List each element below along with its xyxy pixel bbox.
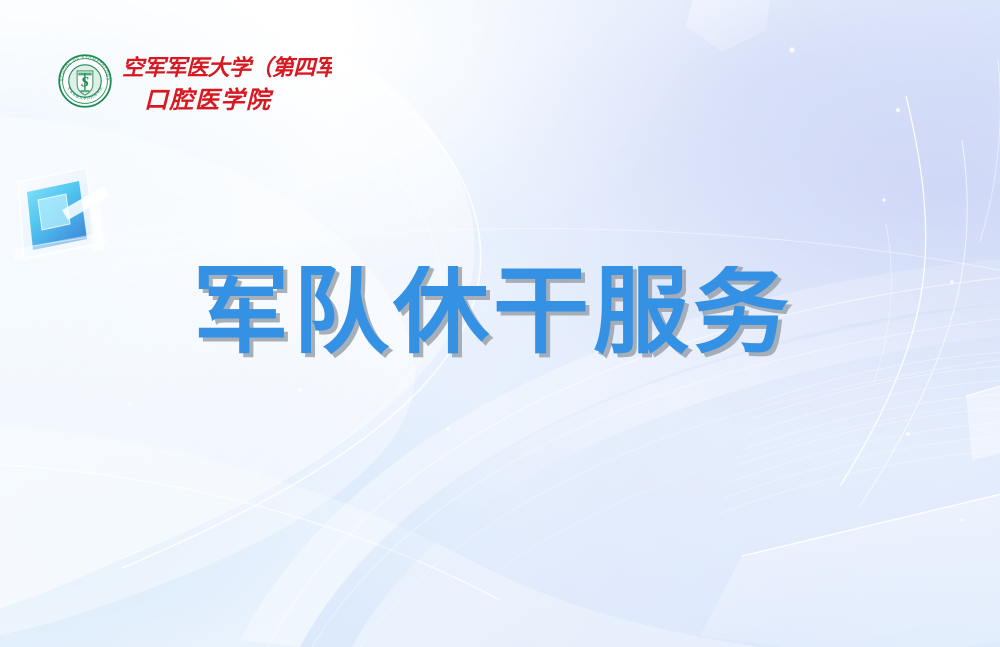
banner-root: SCHOOL OF STOMATOLOGY 空军军医大学口腔医学院 S 空军军医…: [0, 0, 1000, 647]
decor-arc-band-right: [718, 352, 1000, 514]
decor-glass-panel-edge: [742, 492, 1000, 556]
decor-dome-swoosh-2: [0, 115, 415, 647]
decor-glass-chip-edge: [966, 384, 1000, 396]
decor-glass-chip-right: [966, 384, 1000, 460]
university-name-text: 空军军医大学（第四军医大学）: [122, 55, 332, 81]
decor-left-arcs: [0, 226, 206, 290]
decor-polygon-top: [686, 0, 772, 52]
decor-glass-panel-br: [700, 492, 1000, 647]
decor-bottom-sweep: [0, 423, 1000, 647]
decor-diagonal-streaks: [840, 60, 1000, 506]
page-title: 军队休干服务 军队休干服务: [193, 266, 833, 370]
page-title-svg: 军队休干服务 军队休干服务: [193, 266, 833, 370]
university-name-line: 空军军医大学（第四军医大学）: [122, 50, 332, 84]
institution-wordmarks: 空军军医大学（第四军医大学） 口腔医学院: [122, 50, 332, 118]
institution-logo-block: SCHOOL OF STOMATOLOGY 空军军医大学口腔医学院 S 空军军医…: [57, 50, 332, 118]
school-of-stomatology-seal-icon: SCHOOL OF STOMATOLOGY 空军军医大学口腔医学院 S: [57, 53, 113, 109]
college-name-line: 口腔医学院: [122, 82, 304, 118]
college-name-text: 口腔医学院: [144, 86, 274, 114]
decor-bottom-sweep-line: [0, 463, 500, 600]
tech-monitor-glass: [10, 168, 110, 262]
page-title-text: 军队休干服务: [193, 266, 793, 367]
